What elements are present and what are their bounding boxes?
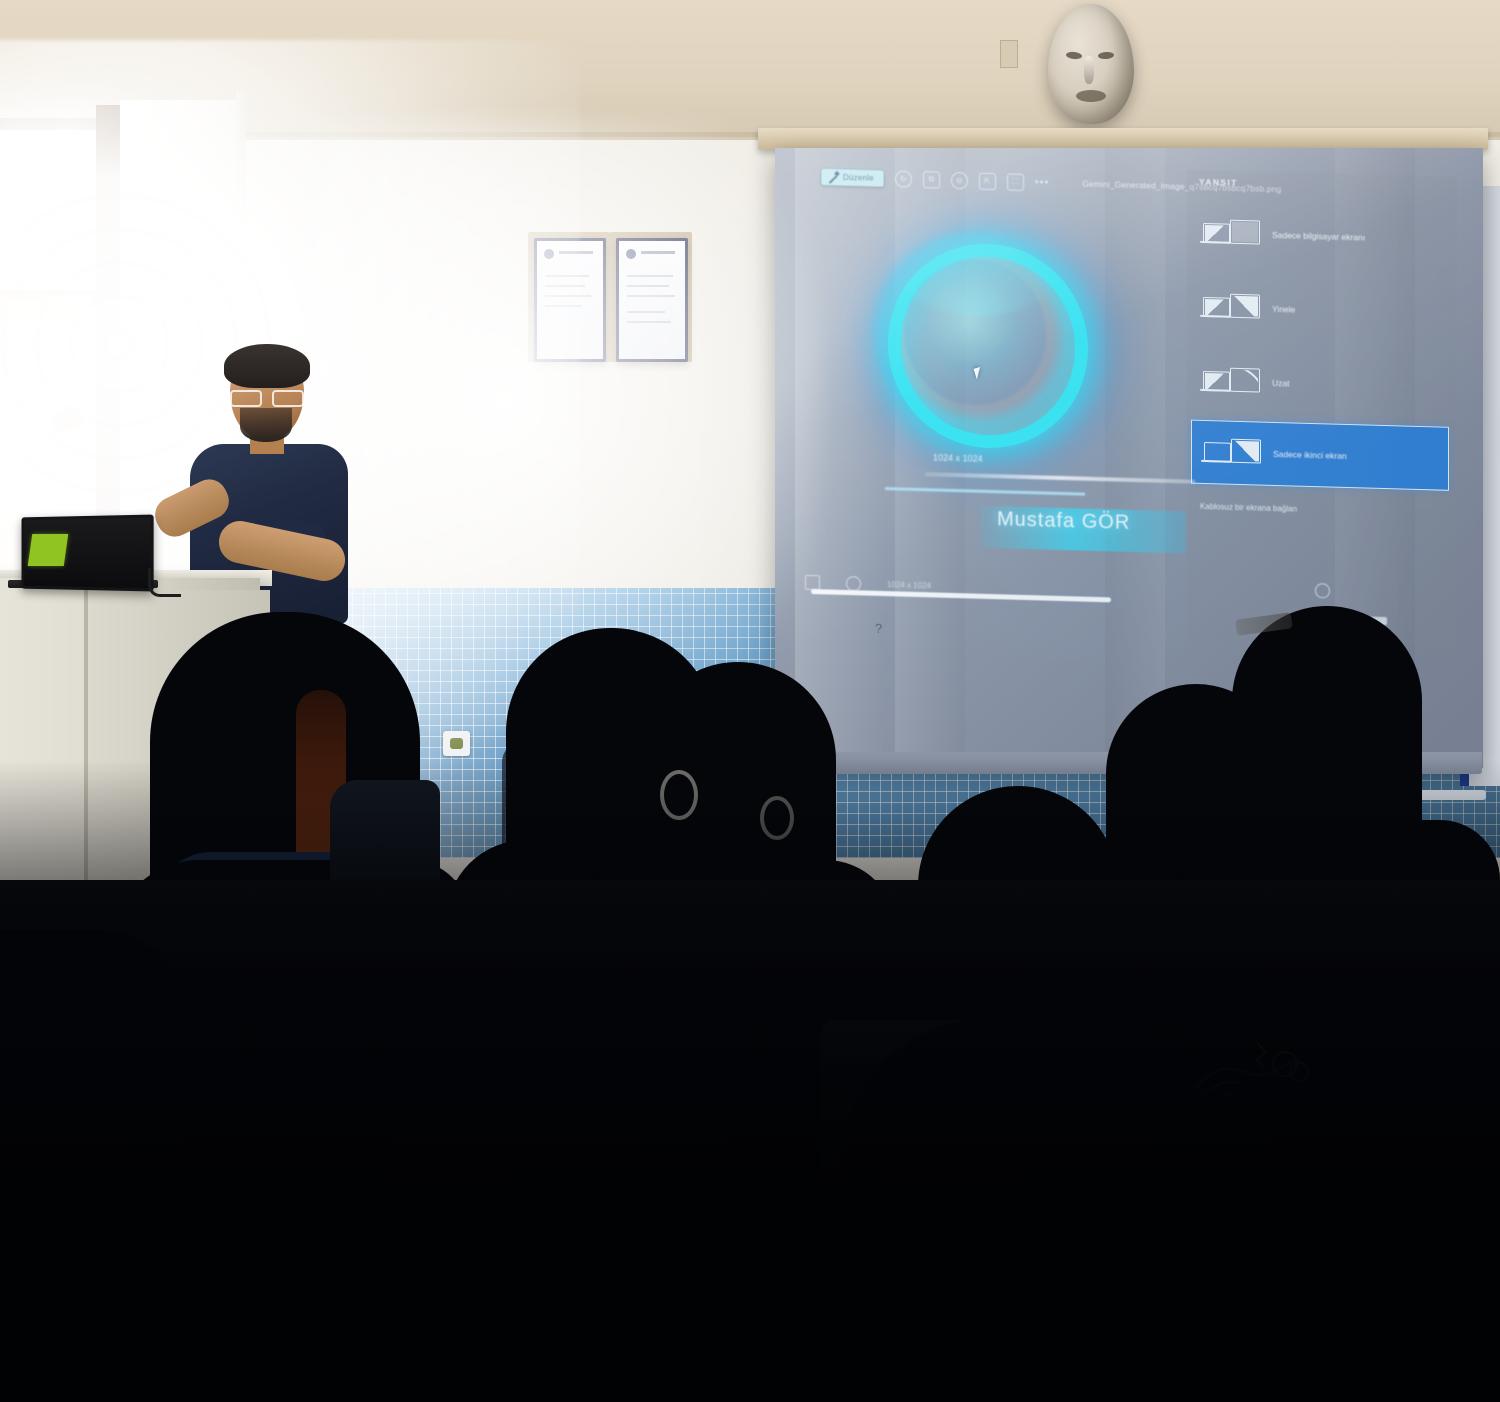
mask-mouth	[1076, 90, 1106, 102]
laptop-cable	[148, 568, 181, 597]
presenter-beard	[240, 408, 292, 442]
laptop-screen-sticker	[28, 534, 68, 566]
mask-nose	[1084, 56, 1094, 84]
presenter-hair	[224, 344, 310, 388]
presenter-glasses-icon	[228, 390, 306, 403]
mask-eye-left	[1066, 51, 1083, 60]
mask-mounting-plate	[1000, 40, 1018, 68]
vignette-overlay	[0, 760, 1500, 1402]
mask-eye-right	[1098, 51, 1114, 59]
screenshot-root: Düzenle ↻ ⧉ ⊖ ⇱ ⛶ ••• Gemini_Generated_I…	[0, 0, 1500, 1402]
